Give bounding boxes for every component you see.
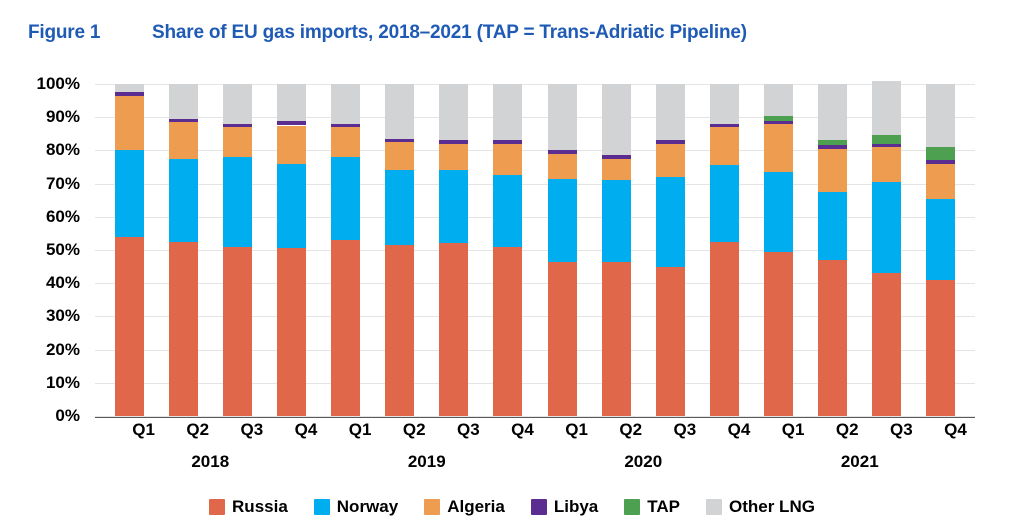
bar-segment-libya xyxy=(710,124,739,127)
x-axis-tick-label: Q3 xyxy=(655,420,715,440)
x-axis-tick-label: Q2 xyxy=(817,420,877,440)
bar-segment-norway xyxy=(656,177,685,267)
bar-segment-norway xyxy=(764,172,793,252)
bar-segment-other-lng xyxy=(385,84,414,139)
bar-segment-libya xyxy=(385,139,414,142)
x-axis-year-label: 2018 xyxy=(102,452,319,472)
plot-area xyxy=(95,84,975,416)
legend-label: Algeria xyxy=(447,497,505,517)
y-axis-tick-labels: 0%10%20%30%40%50%60%70%80%90%100% xyxy=(0,84,88,416)
y-axis-tick-label: 40% xyxy=(0,273,80,293)
bar-2018-Q2[interactable] xyxy=(169,84,198,416)
x-axis-tick-label: Q1 xyxy=(547,420,607,440)
x-axis-quarter-labels: Q1Q2Q3Q4Q1Q2Q3Q4Q1Q2Q3Q4Q1Q2Q3Q4 xyxy=(95,420,975,448)
stacked-bar-chart: 0%10%20%30%40%50%60%70%80%90%100% Q1Q2Q3… xyxy=(0,0,1024,531)
bar-segment-other-lng xyxy=(872,81,901,136)
y-axis-tick-label: 10% xyxy=(0,373,80,393)
bar-segment-norway xyxy=(710,165,739,241)
bar-segment-russia xyxy=(764,252,793,416)
bar-2020-Q1[interactable] xyxy=(548,84,577,416)
legend-label: Other LNG xyxy=(729,497,815,517)
x-axis-year-label: 2019 xyxy=(319,452,536,472)
bar-segment-russia xyxy=(926,280,955,416)
x-axis-year-label: 2020 xyxy=(535,452,752,472)
bar-segment-russia xyxy=(169,242,198,416)
bar-segment-other-lng xyxy=(169,84,198,119)
x-axis-tick-label: Q4 xyxy=(925,420,985,440)
gridline xyxy=(95,416,975,417)
bar-segment-russia xyxy=(439,243,468,416)
y-axis-tick-label: 50% xyxy=(0,240,80,260)
bar-segment-other-lng xyxy=(710,84,739,124)
legend-swatch-icon xyxy=(424,499,440,515)
y-axis-tick-label: 80% xyxy=(0,140,80,160)
legend-label: Libya xyxy=(554,497,598,517)
bar-2019-Q1[interactable] xyxy=(331,84,360,416)
bar-2018-Q3[interactable] xyxy=(223,84,252,416)
bar-segment-other-lng xyxy=(439,84,468,140)
bar-segment-russia xyxy=(548,262,577,416)
x-axis-tick-label: Q4 xyxy=(709,420,769,440)
bar-segment-algeria xyxy=(223,127,252,157)
bar-segment-algeria xyxy=(385,142,414,170)
bar-segment-norway xyxy=(115,150,144,236)
bar-2021-Q4[interactable] xyxy=(926,84,955,416)
bar-segment-russia xyxy=(331,240,360,416)
bar-segment-russia xyxy=(115,237,144,416)
bar-segment-norway xyxy=(872,182,901,273)
bar-segment-norway xyxy=(602,180,631,261)
bar-segment-norway xyxy=(818,192,847,260)
legend-swatch-icon xyxy=(314,499,330,515)
bar-segment-algeria xyxy=(818,149,847,192)
bar-segment-algeria xyxy=(277,126,306,164)
bar-segment-russia xyxy=(872,273,901,416)
bar-segment-russia xyxy=(656,267,685,416)
bar-segment-norway xyxy=(926,199,955,280)
bar-segment-tap xyxy=(818,140,847,145)
y-axis-tick-label: 0% xyxy=(0,406,80,426)
bar-2018-Q1[interactable] xyxy=(115,84,144,416)
bar-segment-russia xyxy=(818,260,847,416)
bar-segment-libya xyxy=(115,92,144,95)
y-axis-tick-label: 90% xyxy=(0,107,80,127)
bar-2020-Q3[interactable] xyxy=(656,84,685,416)
legend-item-russia[interactable]: Russia xyxy=(209,497,288,517)
bar-segment-libya xyxy=(872,144,901,147)
bar-segment-libya xyxy=(331,124,360,127)
bar-segment-libya xyxy=(926,160,955,163)
legend-swatch-icon xyxy=(531,499,547,515)
x-axis-tick-label: Q4 xyxy=(276,420,336,440)
bar-segment-other-lng xyxy=(602,84,631,155)
bar-segment-algeria xyxy=(493,144,522,176)
bar-2021-Q1[interactable] xyxy=(764,84,793,416)
bar-segment-algeria xyxy=(548,154,577,179)
bar-2019-Q3[interactable] xyxy=(439,84,468,416)
x-axis-tick-label: Q4 xyxy=(492,420,552,440)
bar-segment-tap xyxy=(926,147,955,160)
legend-item-other-lng[interactable]: Other LNG xyxy=(706,497,815,517)
bar-segment-algeria xyxy=(872,147,901,182)
bar-segment-norway xyxy=(331,157,360,240)
x-axis-tick-label: Q2 xyxy=(384,420,444,440)
bar-segment-libya xyxy=(818,145,847,148)
legend-label: Russia xyxy=(232,497,288,517)
bar-segment-libya xyxy=(223,124,252,127)
bar-segment-algeria xyxy=(926,164,955,199)
bar-segment-norway xyxy=(277,164,306,249)
y-axis-tick-label: 70% xyxy=(0,174,80,194)
x-axis-tick-label: Q3 xyxy=(438,420,498,440)
bar-segment-libya xyxy=(656,140,685,143)
bar-segment-other-lng xyxy=(115,84,144,92)
bar-segment-other-lng xyxy=(331,84,360,124)
y-axis-tick-label: 20% xyxy=(0,340,80,360)
bar-segment-norway xyxy=(548,179,577,262)
y-axis-tick-label: 100% xyxy=(0,74,80,94)
bar-segment-algeria xyxy=(764,124,793,172)
bar-segment-other-lng xyxy=(548,84,577,150)
bar-segment-algeria xyxy=(602,159,631,181)
bar-2021-Q2[interactable] xyxy=(818,84,847,416)
bar-segment-tap xyxy=(764,116,793,121)
legend-swatch-icon xyxy=(209,499,225,515)
bar-segment-libya xyxy=(169,119,198,122)
bar-segment-algeria xyxy=(710,127,739,165)
bar-segment-other-lng xyxy=(764,84,793,116)
bar-segment-other-lng xyxy=(277,84,306,121)
bar-2020-Q2[interactable] xyxy=(602,84,631,416)
chart-legend: RussiaNorwayAlgeriaLibyaTAPOther LNG xyxy=(0,492,1024,522)
bar-2018-Q4[interactable] xyxy=(277,84,306,416)
x-axis-year-labels: 2018201920202021 xyxy=(95,452,975,480)
bar-segment-russia xyxy=(223,247,252,416)
bar-segment-russia xyxy=(493,247,522,416)
bar-segment-algeria xyxy=(115,96,144,151)
bar-segment-libya xyxy=(764,121,793,124)
bar-2019-Q2[interactable] xyxy=(385,84,414,416)
bar-segment-other-lng xyxy=(223,84,252,124)
legend-item-libya[interactable]: Libya xyxy=(531,497,598,517)
bar-segment-tap xyxy=(872,135,901,143)
bar-2020-Q4[interactable] xyxy=(710,84,739,416)
x-axis-tick-label: Q2 xyxy=(168,420,228,440)
x-axis-tick-label: Q3 xyxy=(222,420,282,440)
bar-segment-libya xyxy=(493,140,522,143)
x-axis-tick-label: Q3 xyxy=(871,420,931,440)
bar-segment-russia xyxy=(385,245,414,416)
bar-segment-russia xyxy=(710,242,739,416)
legend-swatch-icon xyxy=(624,499,640,515)
y-axis-tick-label: 30% xyxy=(0,306,80,326)
x-axis-tick-label: Q2 xyxy=(601,420,661,440)
legend-item-tap[interactable]: TAP xyxy=(624,497,680,517)
bar-segment-russia xyxy=(277,248,306,416)
legend-item-norway[interactable]: Norway xyxy=(314,497,398,517)
x-axis-tick-label: Q1 xyxy=(330,420,390,440)
bar-segment-norway xyxy=(439,170,468,243)
x-axis-year-label: 2021 xyxy=(752,452,969,472)
legend-swatch-icon xyxy=(706,499,722,515)
bar-segment-libya xyxy=(548,150,577,153)
bar-segment-libya xyxy=(439,140,468,143)
bar-segment-libya xyxy=(602,155,631,158)
bar-2019-Q4[interactable] xyxy=(493,84,522,416)
bar-segment-algeria xyxy=(169,122,198,159)
bar-segment-norway xyxy=(223,157,252,247)
bar-segment-norway xyxy=(493,175,522,246)
legend-label: Norway xyxy=(337,497,398,517)
bar-segment-libya xyxy=(277,121,306,126)
bar-segment-algeria xyxy=(656,144,685,177)
bar-segment-norway xyxy=(385,170,414,245)
bar-segment-other-lng xyxy=(926,84,955,147)
bar-segment-other-lng xyxy=(656,84,685,140)
bar-segment-russia xyxy=(602,262,631,416)
bar-segment-other-lng xyxy=(493,84,522,140)
bar-segment-algeria xyxy=(439,144,468,171)
y-axis-tick-label: 60% xyxy=(0,207,80,227)
legend-label: TAP xyxy=(647,497,680,517)
legend-item-algeria[interactable]: Algeria xyxy=(424,497,505,517)
x-axis-tick-label: Q1 xyxy=(763,420,823,440)
bar-segment-norway xyxy=(169,159,198,242)
bar-segment-algeria xyxy=(331,127,360,157)
x-axis-tick-label: Q1 xyxy=(114,420,174,440)
bar-2021-Q3[interactable] xyxy=(872,84,901,416)
bar-segment-other-lng xyxy=(818,84,847,140)
